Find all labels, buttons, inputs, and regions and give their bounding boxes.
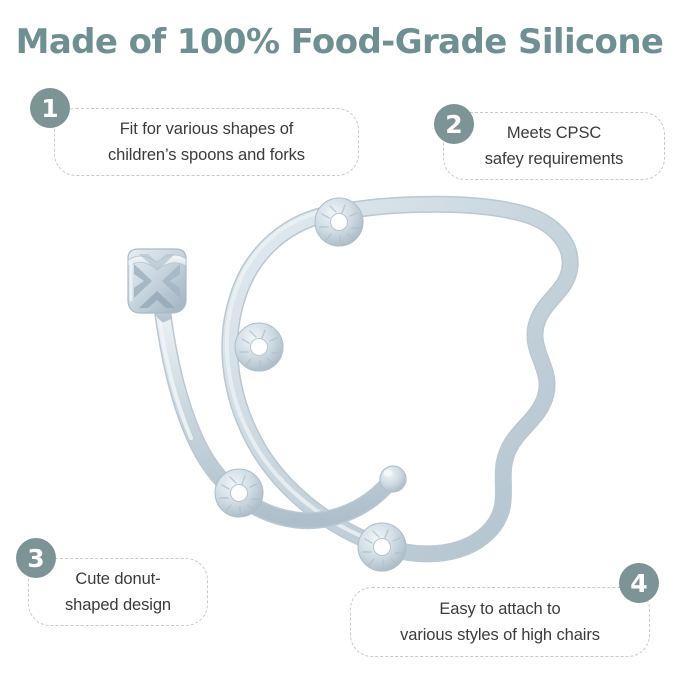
page-title: Made of 100% Food-Grade Silicone xyxy=(0,20,679,64)
tail-strap xyxy=(163,315,386,521)
callout-text-3: Cute donut- shaped design xyxy=(65,566,171,618)
strap-group xyxy=(227,204,570,554)
wavy-strap-loop-fill xyxy=(230,204,570,554)
ball-end xyxy=(380,466,406,492)
tail-strap-group xyxy=(160,315,406,521)
clip-top-rim xyxy=(128,255,186,269)
callout-badge-1: 1 xyxy=(30,88,70,128)
donut-bead xyxy=(358,523,406,571)
callout-box-2: Meets CPSC safey requirements xyxy=(443,112,665,180)
ball-end-highlight xyxy=(384,470,393,477)
wavy-strap-loop xyxy=(230,204,570,554)
callout-box-3: Cute donut- shaped design xyxy=(28,558,208,626)
clip-x-slot-bottom xyxy=(139,291,175,308)
clip-body xyxy=(128,249,186,313)
callout-text-1: Fit for various shapes of children’s spo… xyxy=(108,116,305,168)
tail-strap-highlight xyxy=(160,322,191,438)
clip-x-slot-top xyxy=(139,254,175,271)
donut-bead xyxy=(235,323,283,371)
donut-bead xyxy=(215,469,263,517)
clip-neck xyxy=(150,292,172,322)
strap-highlight xyxy=(227,210,379,543)
callout-badge-4: 4 xyxy=(619,563,659,603)
callout-box-1: Fit for various shapes of children’s spo… xyxy=(54,108,359,176)
tail-strap-fill xyxy=(163,315,386,521)
callout-box-4: Easy to attach to various styles of high… xyxy=(350,587,650,657)
infographic-root: Made of 100% Food-Grade Silicone xyxy=(0,0,679,679)
callout-badge-2: 2 xyxy=(434,104,474,144)
donut-bead xyxy=(315,198,363,246)
callout-text-2: Meets CPSC safey requirements xyxy=(485,120,624,172)
callout-text-4: Easy to attach to various styles of high… xyxy=(400,596,600,648)
x-slot-clip xyxy=(128,249,186,322)
callout-badge-3: 3 xyxy=(16,538,56,578)
clip-x-slot xyxy=(134,264,152,298)
clip-x-slot-right xyxy=(162,264,180,298)
